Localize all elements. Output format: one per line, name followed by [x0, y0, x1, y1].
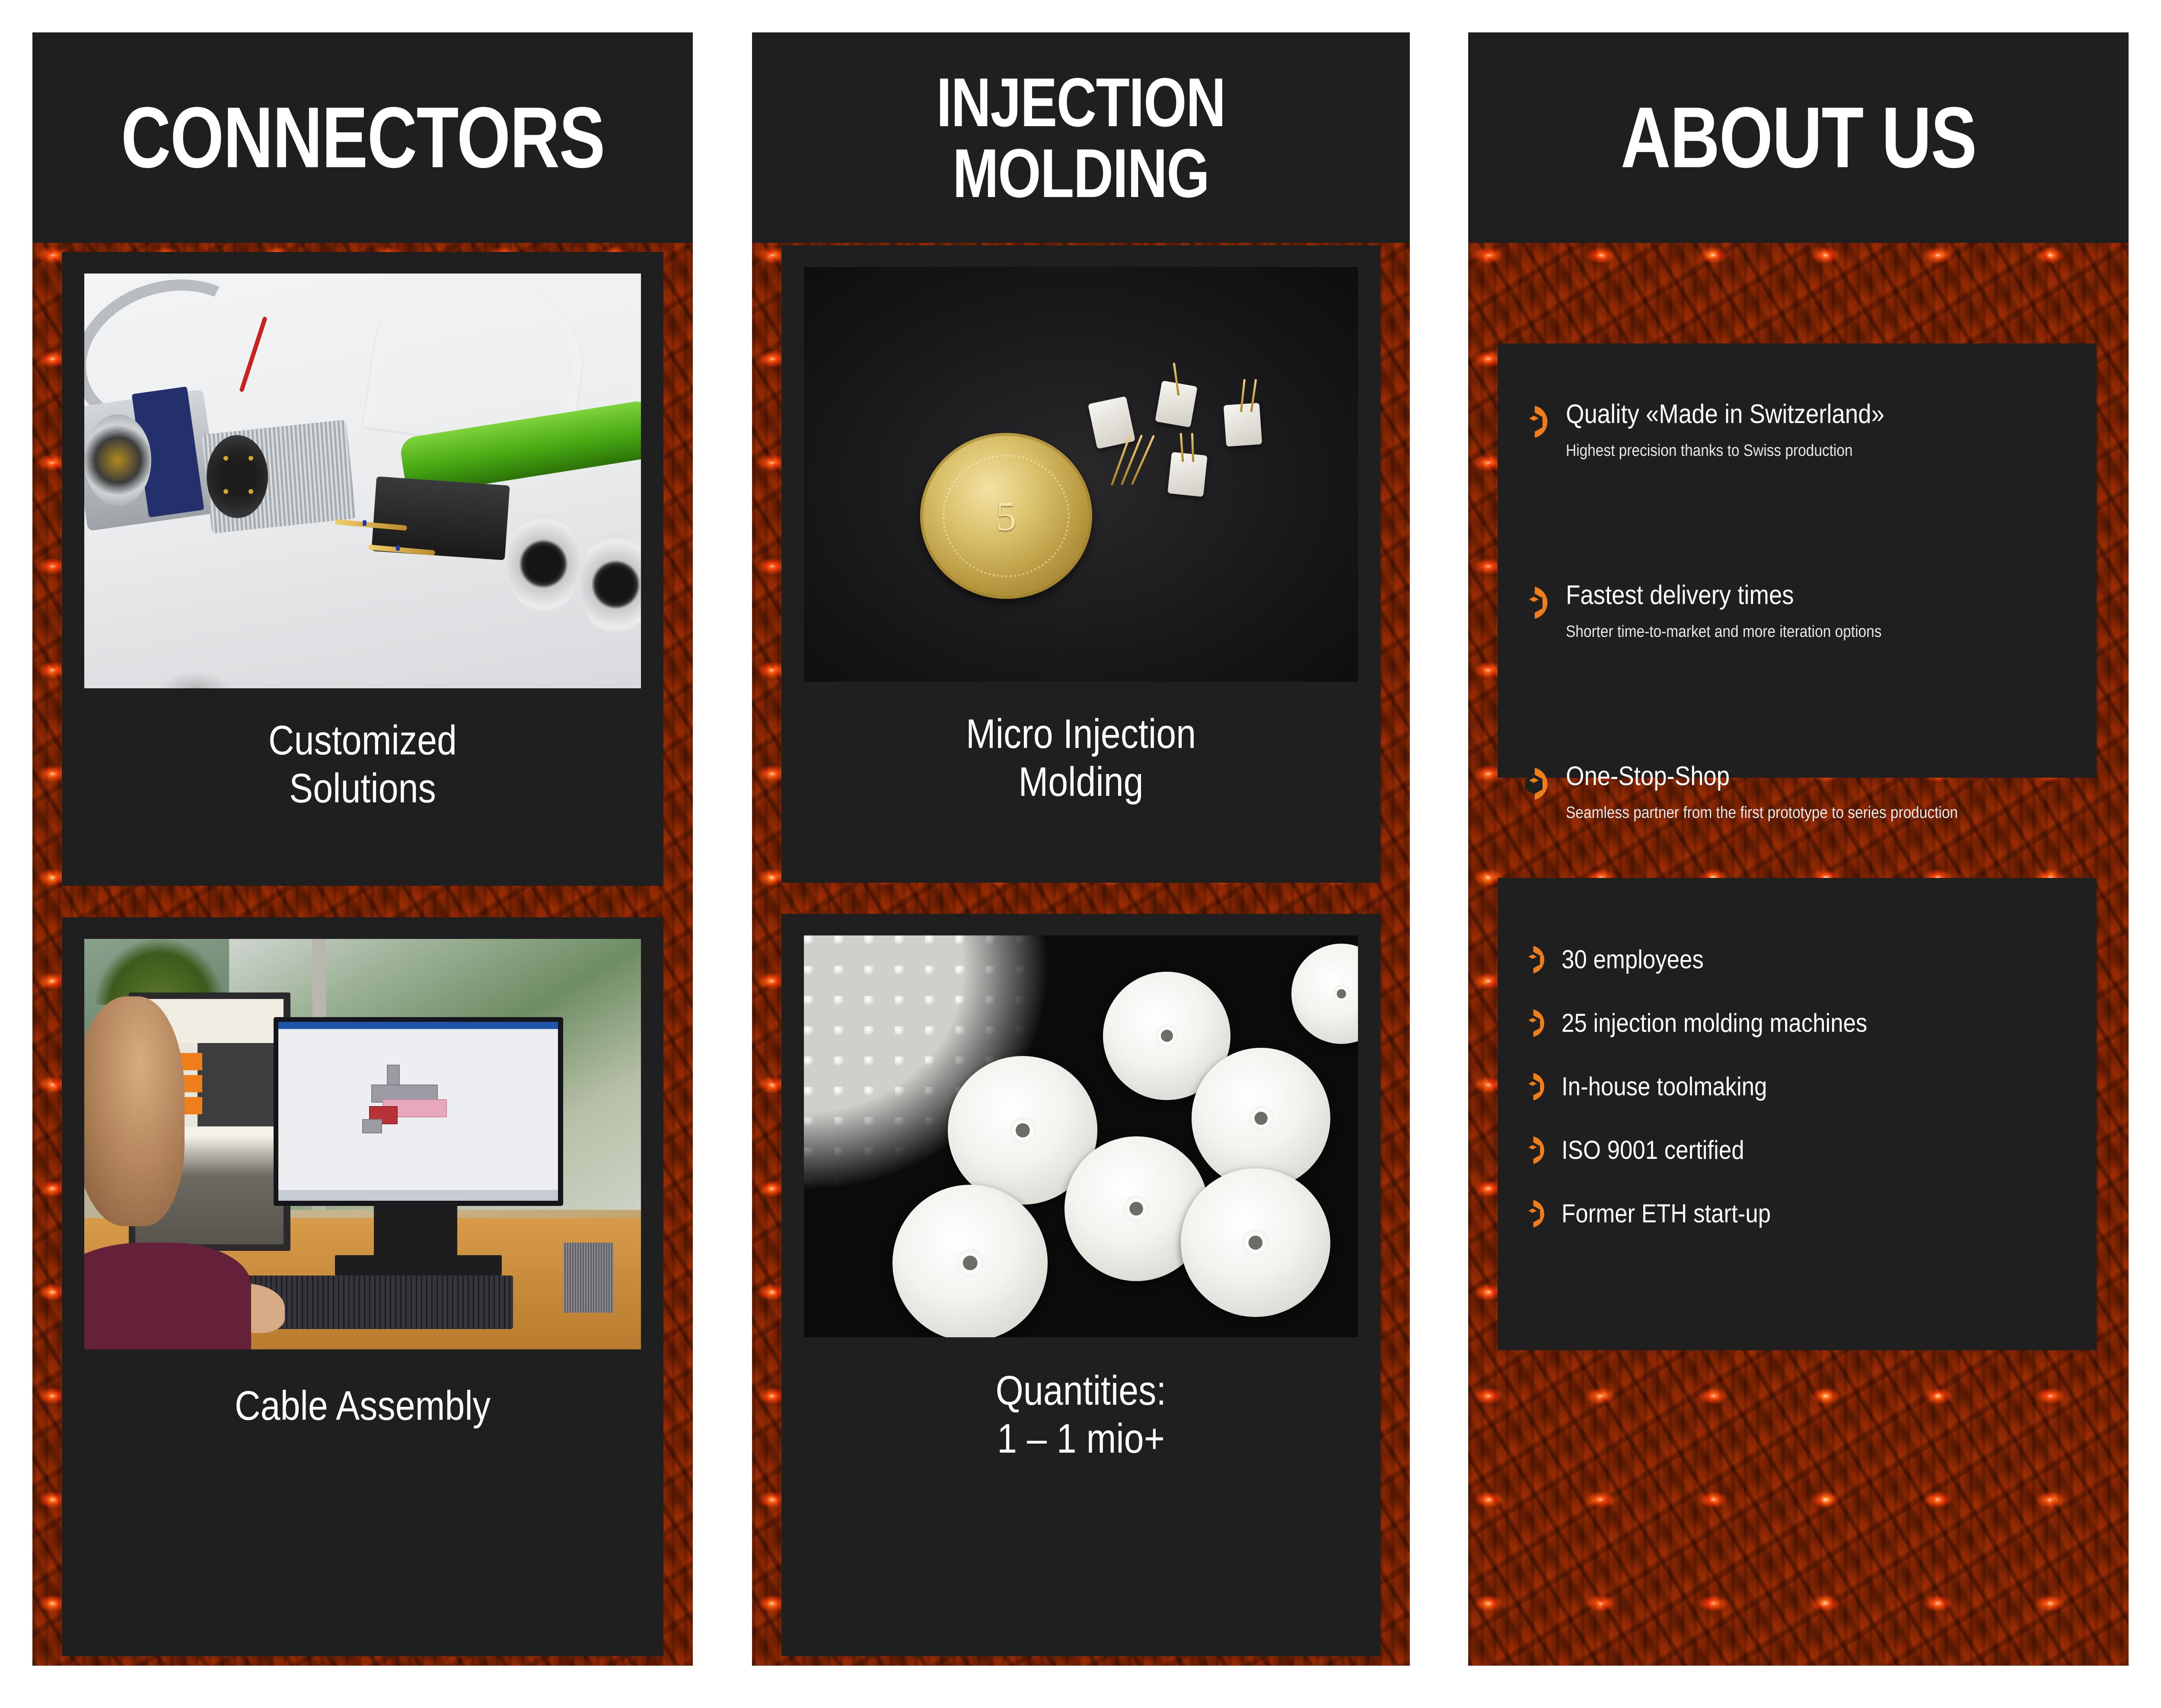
caption-micro-injection-molding: Micro Injection Molding — [823, 710, 1339, 806]
connectors-photo — [84, 274, 641, 688]
card-cable-assembly[interactable]: Cable Assembly — [62, 917, 663, 1656]
card-quantities[interactable]: Quantities: 1 – 1 mio+ — [781, 914, 1380, 1656]
stat-item: ISO 9001 certified — [1524, 1135, 1769, 1165]
card-stats: 30 employees 25 injection molding — [1498, 878, 2097, 1350]
cube-half-circle-icon — [1524, 1072, 1546, 1101]
cad-workstation-render — [84, 939, 641, 1349]
cube-half-circle-icon — [1524, 1008, 1546, 1038]
stat-item: In-house toolmaking — [1524, 1072, 1795, 1101]
benefit-title: One-Stop-Shop — [1566, 762, 1964, 791]
panel-about-us-title: ABOUT US — [1621, 94, 1976, 182]
stat-label: 25 injection molding machines — [1562, 1009, 1867, 1037]
stat-label: 30 employees — [1562, 945, 1704, 974]
card-customized-solutions[interactable]: Customized Solutions — [62, 252, 663, 886]
benefit-title: Quality «Made in Switzerland» — [1566, 400, 2006, 429]
panel-connectors-title: CONNECTORS — [121, 94, 605, 182]
cube-half-circle-icon — [1524, 1135, 1546, 1165]
stat-label: In-house toolmaking — [1562, 1072, 1767, 1101]
stat-label: ISO 9001 certified — [1562, 1136, 1744, 1164]
benefit-item: One-Stop-Shop Seamless partner from the … — [1498, 762, 2097, 825]
cube-half-circle-icon — [1524, 586, 1549, 620]
micro-parts-coin-render: 5 — [804, 267, 1358, 682]
cube-half-circle-icon — [1524, 1199, 1546, 1228]
panel-connectors-header: CONNECTORS — [32, 32, 693, 243]
caption-quantities: Quantities: 1 – 1 mio+ — [823, 1367, 1339, 1463]
benefit-texts: Quality «Made in Switzerland» Highest pr… — [1566, 400, 2066, 463]
benefit-texts: Fastest delivery times Shorter time-to-m… — [1566, 581, 2066, 644]
benefit-sub: Highest precision thanks to Swiss produc… — [1566, 439, 2006, 463]
micro-parts-coin-photo: 5 — [804, 267, 1358, 682]
panel-injection-molding-header: INJECTION MOLDING — [752, 32, 1410, 243]
cad-workstation-photo — [84, 939, 641, 1349]
stat-label: Former ETH start-up — [1562, 1199, 1771, 1228]
panel-about-us-header: ABOUT US — [1468, 32, 2129, 243]
panel-injection-molding: INJECTION MOLDING 5 — [752, 32, 1410, 1666]
panel-injection-molding-body: 5 M — [752, 243, 1410, 1666]
benefit-title: Fastest delivery times — [1566, 581, 2006, 610]
white-gears-render — [804, 935, 1358, 1337]
white-gears-photo — [804, 935, 1358, 1337]
benefit-item: Quality «Made in Switzerland» Highest pr… — [1498, 400, 2097, 463]
cube-half-circle-icon — [1524, 405, 1549, 439]
panel-about-us-body: Quality «Made in Switzerland» Highest pr… — [1468, 243, 2129, 1666]
stat-item: Former ETH start-up — [1524, 1199, 1799, 1228]
panel-about-us: ABOUT US — [1468, 32, 2129, 1666]
cube-half-circle-icon — [1524, 945, 1546, 974]
panel-injection-molding-title: INJECTION MOLDING — [937, 67, 1225, 208]
cube-half-circle-icon — [1524, 767, 1549, 801]
caption-cable-assembly: Cable Assembly — [104, 1382, 621, 1430]
benefit-texts: One-Stop-Shop Seamless partner from the … — [1566, 762, 2019, 825]
caption-customized-solutions: Customized Solutions — [104, 716, 621, 813]
stat-item: 30 employees — [1524, 945, 1723, 974]
coin-value: 5 — [920, 433, 1092, 599]
connectors-photo-render — [84, 274, 641, 688]
panel-connectors-body: Customized Solutions — [32, 243, 693, 1666]
panel-connectors: CONNECTORS — [32, 32, 693, 1666]
card-micro-injection-molding[interactable]: 5 M — [781, 245, 1380, 883]
benefit-sub: Seamless partner from the first prototyp… — [1566, 802, 1964, 825]
card-benefits: Quality «Made in Switzerland» Highest pr… — [1498, 344, 2097, 778]
brochure-page: CONNECTORS — [0, 0, 2161, 1708]
benefit-item: Fastest delivery times Shorter time-to-m… — [1498, 581, 2097, 644]
benefit-sub: Shorter time-to-market and more iteratio… — [1566, 620, 2006, 644]
stat-item: 25 injection molding machines — [1524, 1008, 1909, 1038]
